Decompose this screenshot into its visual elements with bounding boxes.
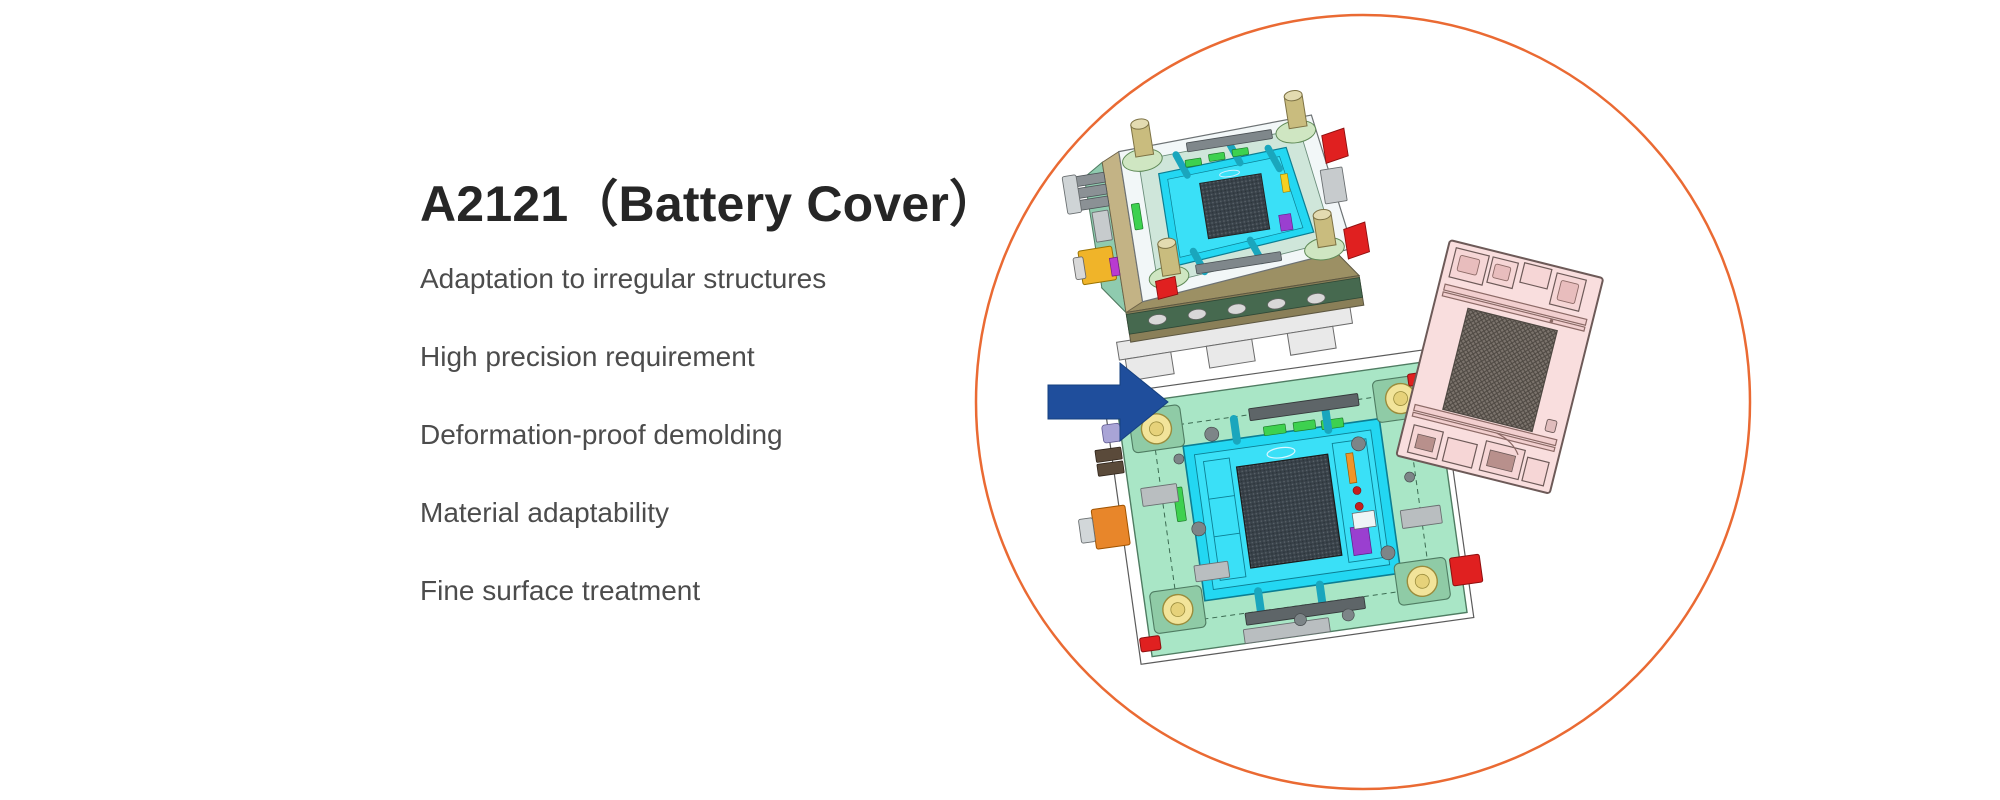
- text-column: A2121（Battery Cover） Adaptation to irreg…: [420, 178, 960, 605]
- battery-cover-part: [1396, 240, 1603, 494]
- list-item: Deformation-proof demolding: [420, 421, 960, 449]
- page-title: A2121（Battery Cover）: [420, 178, 960, 231]
- product-graphic-area: [960, 0, 1780, 800]
- list-item: Material adaptability: [420, 499, 960, 527]
- list-item: High precision requirement: [420, 343, 960, 371]
- injection-mold-half-isometric: [1052, 83, 1383, 387]
- list-item: Fine surface treatment: [420, 577, 960, 605]
- feature-list: Adaptation to irregular structures High …: [420, 265, 960, 605]
- list-item: Adaptation to irregular structures: [420, 265, 960, 293]
- slide-root: A2121（Battery Cover） Adaptation to irreg…: [0, 0, 2000, 800]
